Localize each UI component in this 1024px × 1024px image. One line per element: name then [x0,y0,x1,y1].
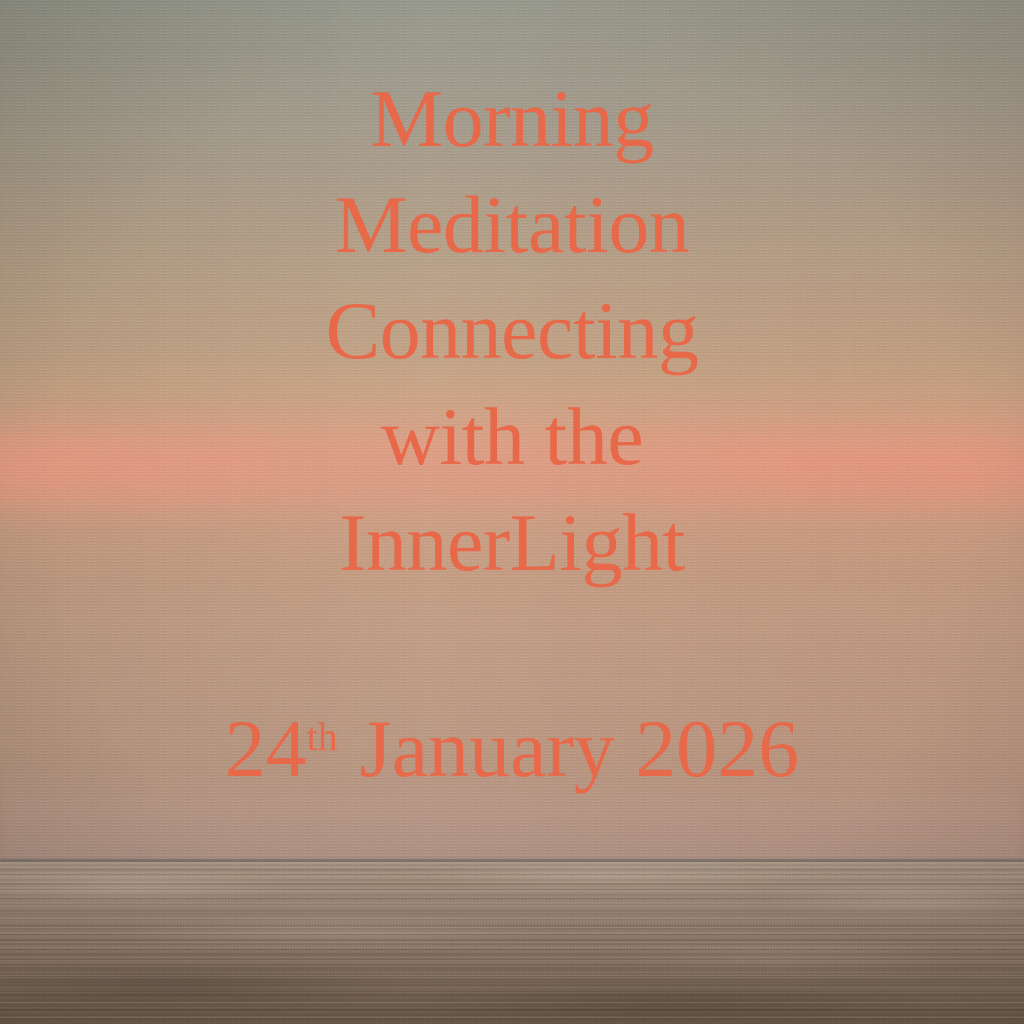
event-title: Morning Meditation Connecting with the I… [0,66,1024,596]
title-line-4: with the [0,384,1024,490]
text-overlay: Morning Meditation Connecting with the I… [0,0,1024,1024]
event-date: 24thJanuary 2026 [0,704,1024,794]
title-line-5: InnerLight [0,490,1024,596]
poster-canvas: Morning Meditation Connecting with the I… [0,0,1024,1024]
title-line-1: Morning [0,66,1024,172]
event-date-day: 24 [225,703,307,794]
title-line-2: Meditation [0,172,1024,278]
event-date-month-year: January 2026 [360,703,800,794]
event-date-ordinal: th [307,714,338,759]
title-line-3: Connecting [0,278,1024,384]
